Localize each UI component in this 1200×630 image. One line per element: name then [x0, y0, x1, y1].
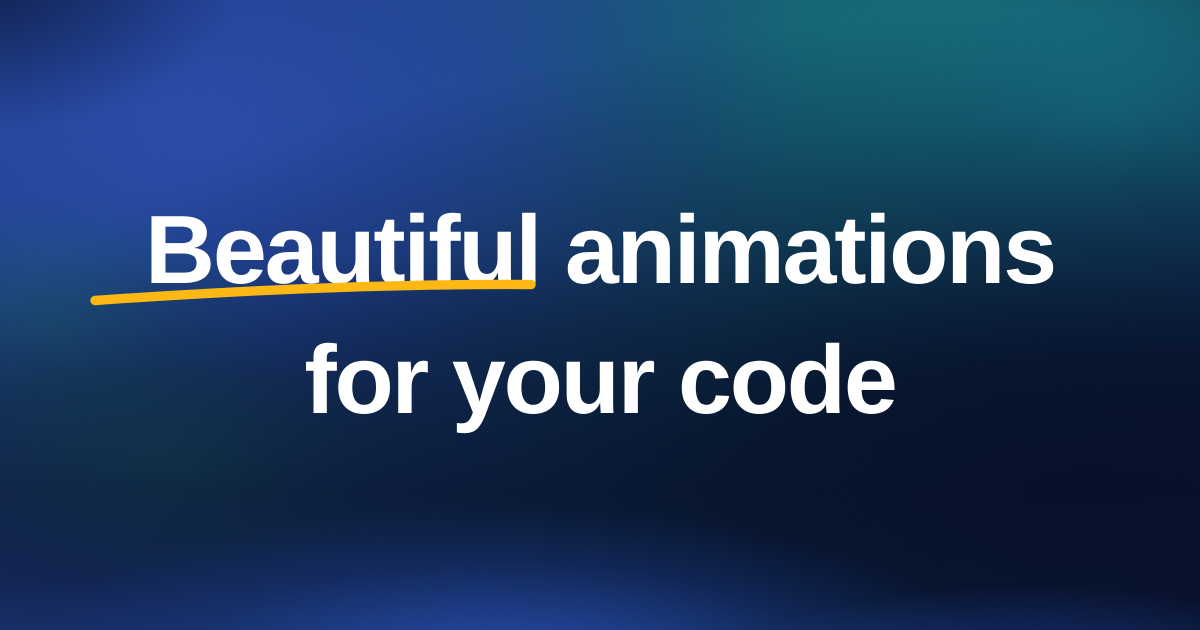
headline-line-secondary: for your code: [304, 315, 895, 445]
headline-line-primary: Beautiful animations: [145, 185, 1055, 315]
headline-block: Beautiful animations for your code: [0, 0, 1200, 630]
og-card: Beautiful animations for your code: [0, 0, 1200, 630]
